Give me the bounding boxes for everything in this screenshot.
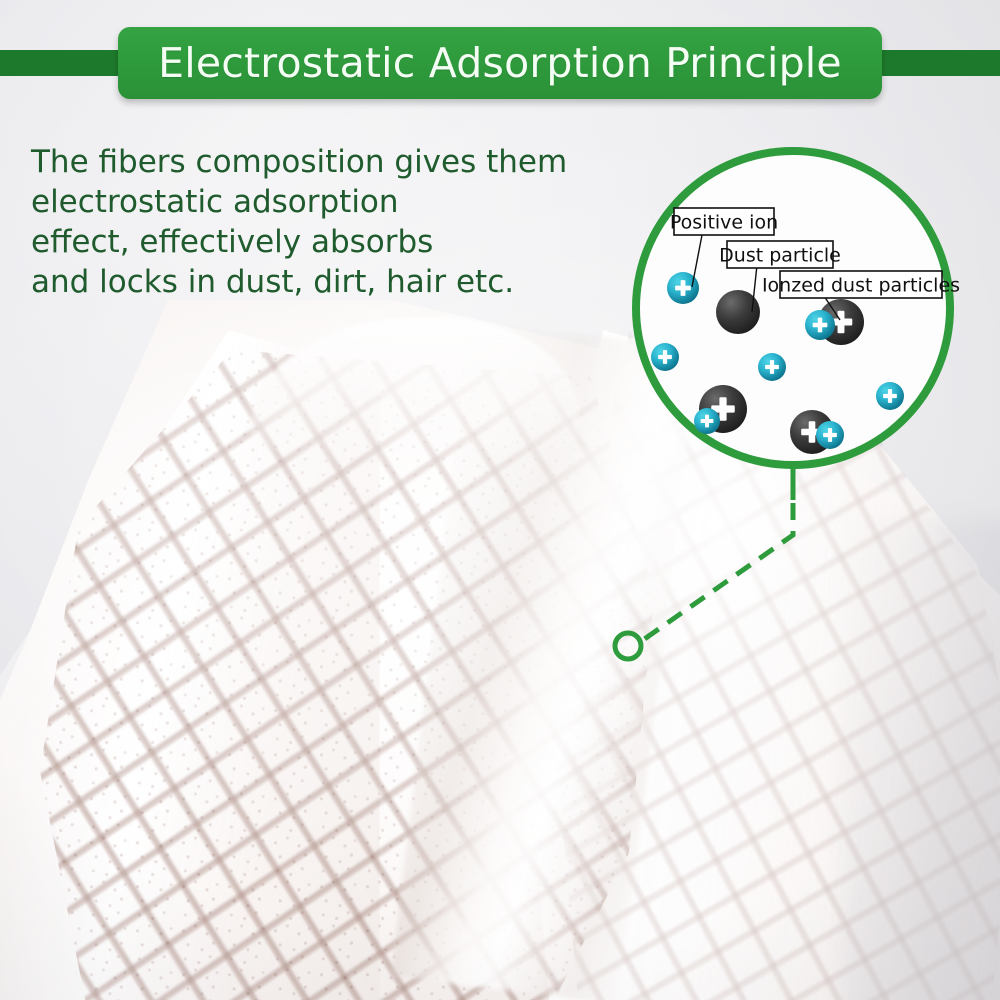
positive-ion-particle: [758, 353, 786, 381]
connector-target-marker: [615, 633, 641, 659]
connector-dashed-path: [643, 503, 793, 640]
infographic-canvas: Electrostatic Adsorption Principle The f…: [0, 0, 1000, 1000]
positive-ion-particle: [651, 343, 679, 371]
positive-ion-particle: [816, 421, 844, 449]
positive-ion-particle: [876, 382, 904, 410]
callout-label: Positive ion: [670, 212, 778, 234]
callout-connector: [615, 466, 793, 659]
callout-label: Dust particle: [719, 245, 841, 267]
positive-ion-particle: [694, 408, 720, 434]
positive-ion-particle: [805, 310, 835, 340]
callout-label: Ionzed dust particles: [762, 275, 960, 297]
electrostatic-diagram: Positive ionDust particleIonzed dust par…: [0, 0, 1000, 1000]
